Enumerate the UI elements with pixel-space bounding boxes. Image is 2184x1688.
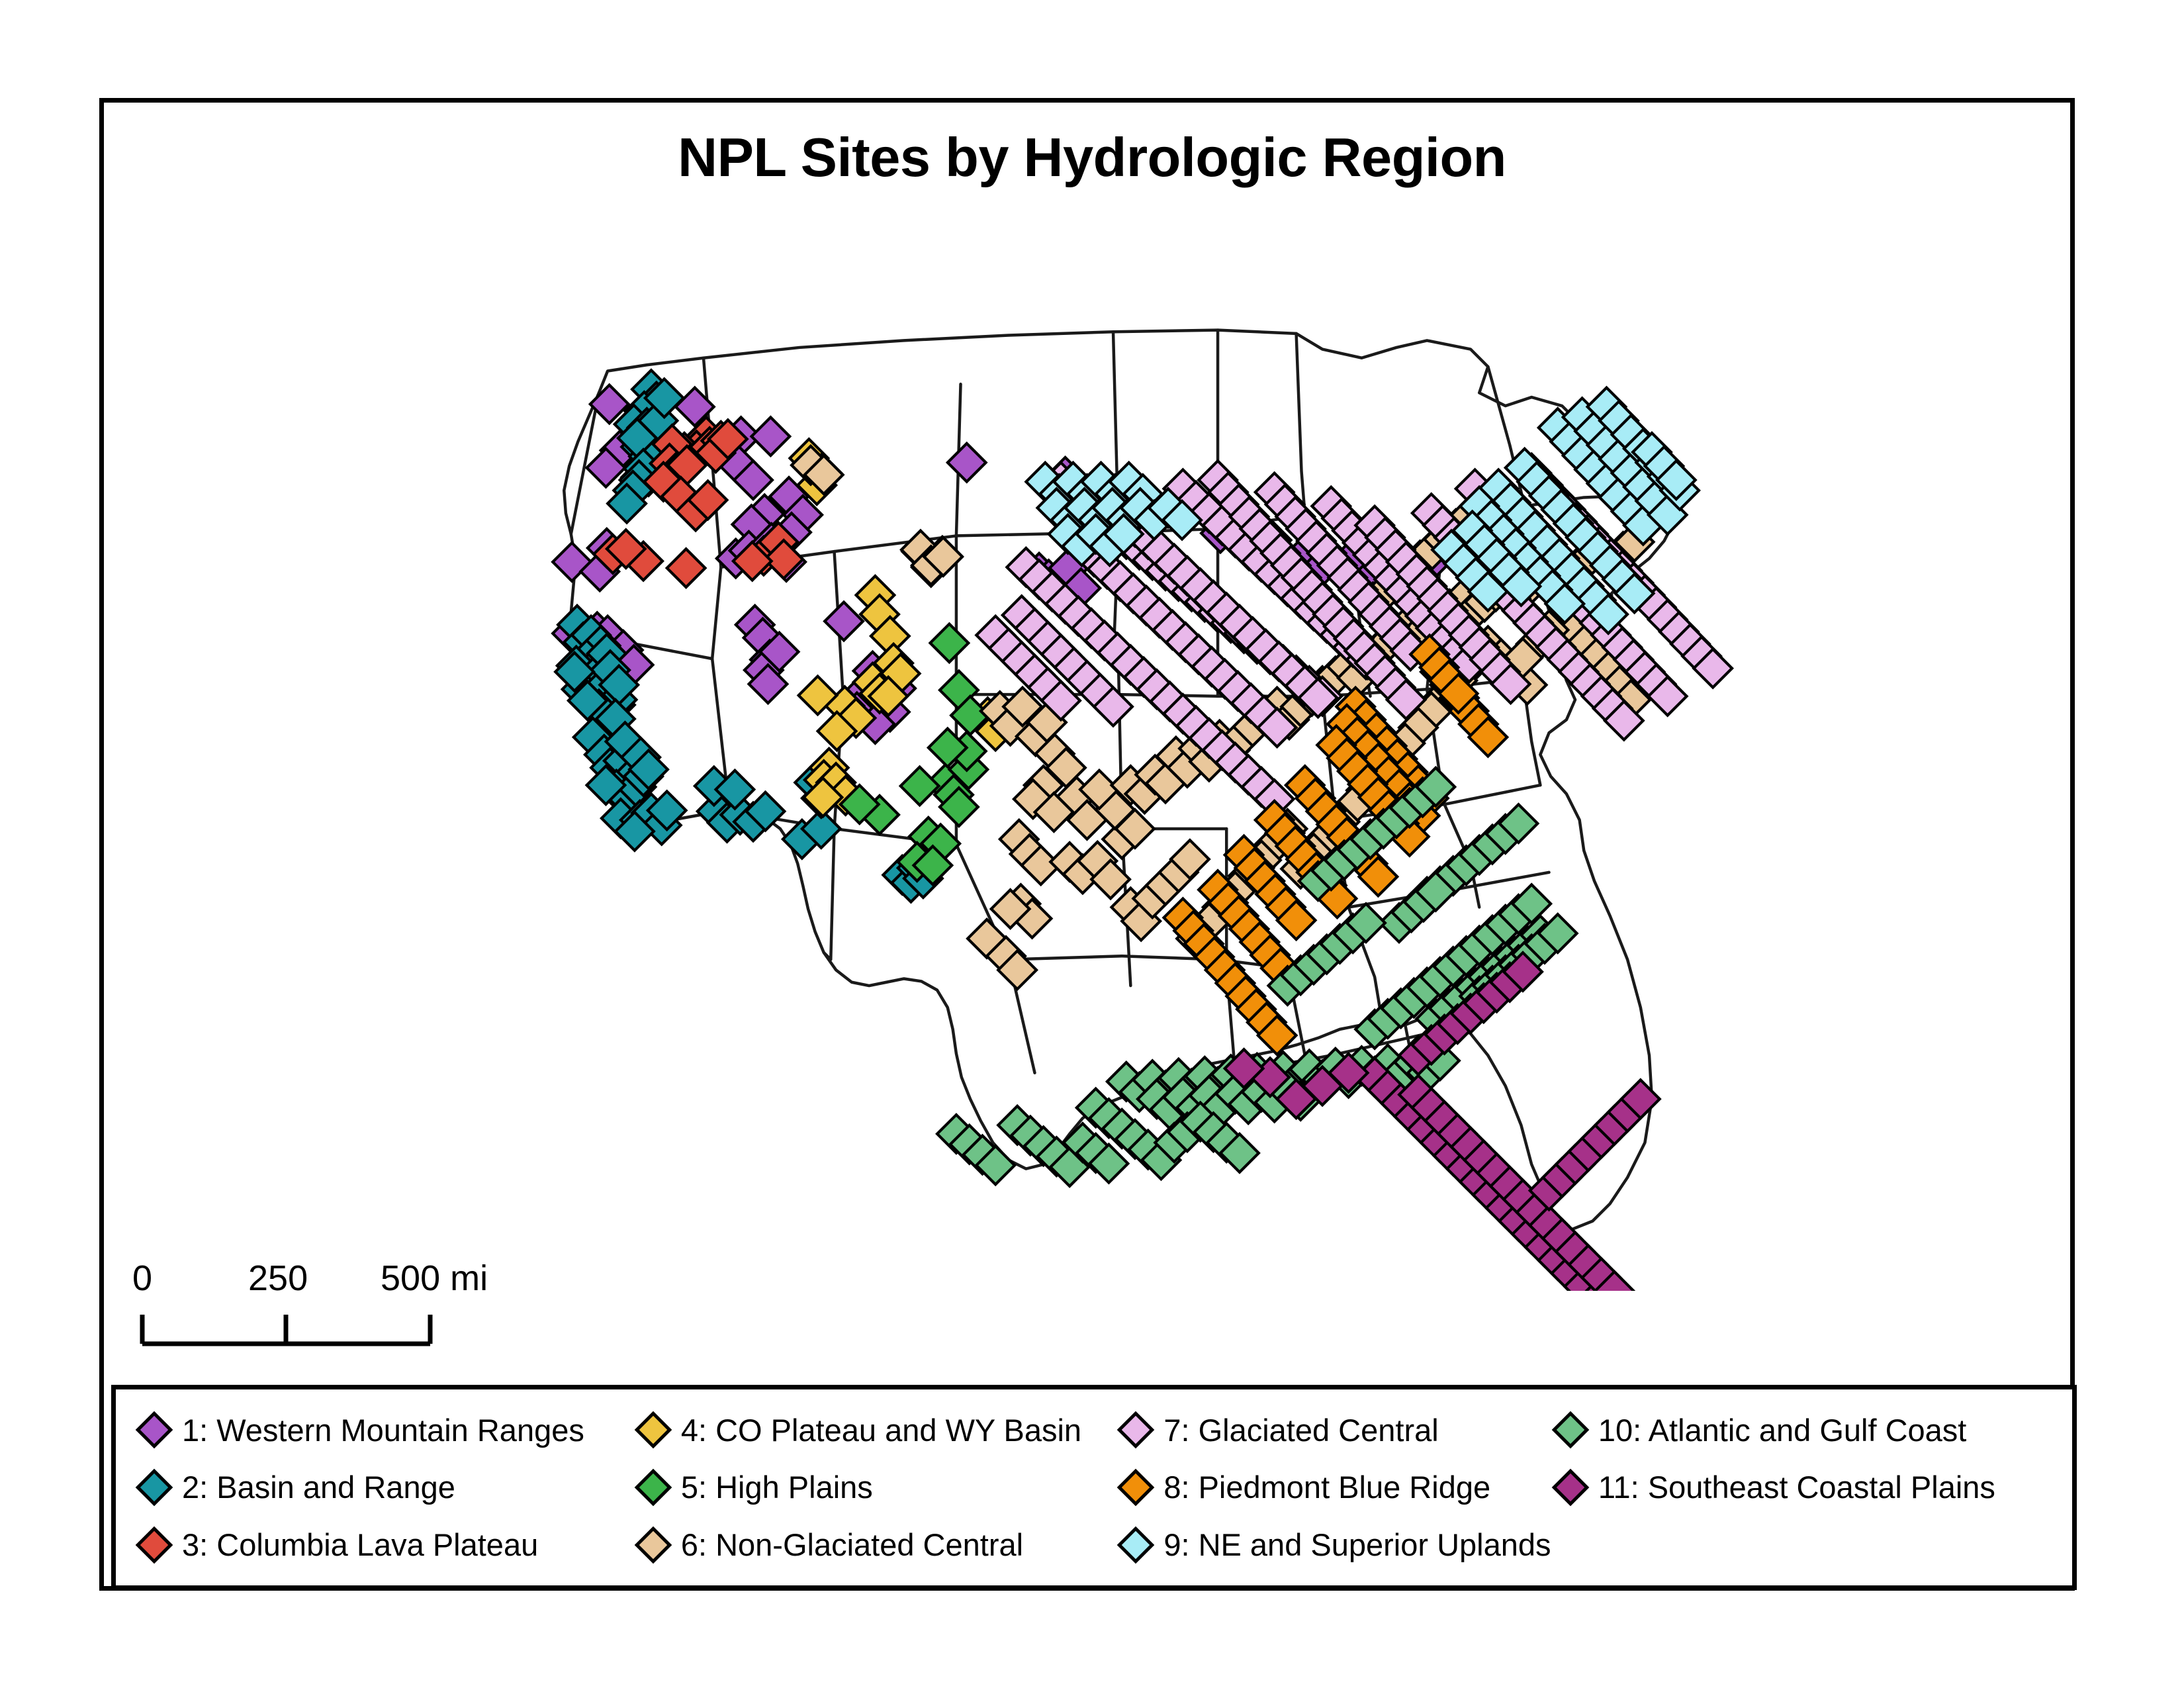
- marker-group-region-10: [937, 768, 1577, 1186]
- legend-label-11: 11: Southeast Coastal Plains: [1598, 1469, 1995, 1505]
- page-title: NPL Sites by Hydrologic Region: [0, 126, 2184, 189]
- npl-site-marker: [752, 417, 790, 455]
- legend-swatch-diamond-icon-4: [635, 1411, 672, 1449]
- legend-swatch-diamond-icon-3: [136, 1526, 173, 1564]
- legend-item-5[interactable]: 5: High Plains: [640, 1469, 1123, 1505]
- legend-label-4: 4: CO Plateau and WY Basin: [681, 1412, 1081, 1448]
- legend-label-2: 2: Basin and Range: [182, 1469, 455, 1505]
- map-figure: NPL Sites by Hydrologic Region: [0, 0, 2184, 1688]
- legend-item-9[interactable]: 9: NE and Superior Uplands: [1122, 1526, 1557, 1563]
- legend-item-10[interactable]: 10: Atlantic and Gulf Coast: [1557, 1412, 2072, 1448]
- legend-label-3: 3: Columbia Lava Plateau: [182, 1526, 538, 1563]
- npl-site-markers: [553, 370, 1732, 1291]
- scale-tick-250: 250: [248, 1258, 308, 1299]
- legend-swatch-diamond-icon-11: [1552, 1469, 1590, 1507]
- map-canvas: [99, 218, 2075, 1291]
- legend-swatch-diamond-icon-1: [136, 1411, 173, 1449]
- legend-label-9: 9: NE and Superior Uplands: [1163, 1526, 1551, 1563]
- npl-site-marker: [901, 767, 939, 806]
- marker-group-region-4: [790, 439, 1015, 816]
- scale-tick-0: 0: [132, 1258, 152, 1299]
- legend-label-8: 8: Piedmont Blue Ridge: [1163, 1469, 1490, 1505]
- legend-item-1[interactable]: 1: Western Mountain Ranges: [141, 1412, 640, 1448]
- legend-item-7[interactable]: 7: Glaciated Central: [1122, 1412, 1557, 1448]
- scale-bar: 0 250 500 mi: [132, 1258, 437, 1364]
- scale-tick-500: 500 mi: [381, 1258, 488, 1299]
- legend-swatch-diamond-icon-5: [635, 1469, 672, 1507]
- legend-swatch-diamond-icon-10: [1552, 1411, 1590, 1449]
- scale-bar-labels: 0 250 500 mi: [132, 1258, 503, 1299]
- legend: 1: Western Mountain Ranges4: CO Plateau …: [111, 1385, 2077, 1590]
- legend-label-6: 6: Non-Glaciated Central: [681, 1526, 1023, 1563]
- legend-swatch-diamond-icon-9: [1117, 1526, 1155, 1564]
- legend-item-6[interactable]: 6: Non-Glaciated Central: [640, 1526, 1123, 1563]
- legend-label-10: 10: Atlantic and Gulf Coast: [1598, 1412, 1967, 1448]
- legend-label-5: 5: High Plains: [681, 1469, 873, 1505]
- legend-item-3[interactable]: 3: Columbia Lava Plateau: [141, 1526, 640, 1563]
- legend-item-8[interactable]: 8: Piedmont Blue Ridge: [1122, 1469, 1557, 1505]
- legend-grid: 1: Western Mountain Ranges4: CO Plateau …: [116, 1389, 2072, 1585]
- legend-label-7: 7: Glaciated Central: [1163, 1412, 1438, 1448]
- us-map-svg: [99, 218, 2075, 1291]
- legend-swatch-diamond-icon-8: [1117, 1469, 1155, 1507]
- npl-site-marker: [948, 444, 986, 482]
- scale-bar-graphic: [139, 1309, 437, 1349]
- legend-item-2[interactable]: 2: Basin and Range: [141, 1469, 640, 1505]
- npl-site-marker: [667, 549, 705, 587]
- legend-item-11[interactable]: 11: Southeast Coastal Plains: [1557, 1469, 2072, 1505]
- legend-swatch-diamond-icon-2: [136, 1469, 173, 1507]
- legend-swatch-diamond-icon-7: [1117, 1411, 1155, 1449]
- legend-label-1: 1: Western Mountain Ranges: [182, 1412, 584, 1448]
- legend-swatch-diamond-icon-6: [635, 1526, 672, 1564]
- npl-site-marker: [825, 602, 863, 641]
- legend-item-4[interactable]: 4: CO Plateau and WY Basin: [640, 1412, 1123, 1448]
- npl-site-marker: [931, 624, 969, 663]
